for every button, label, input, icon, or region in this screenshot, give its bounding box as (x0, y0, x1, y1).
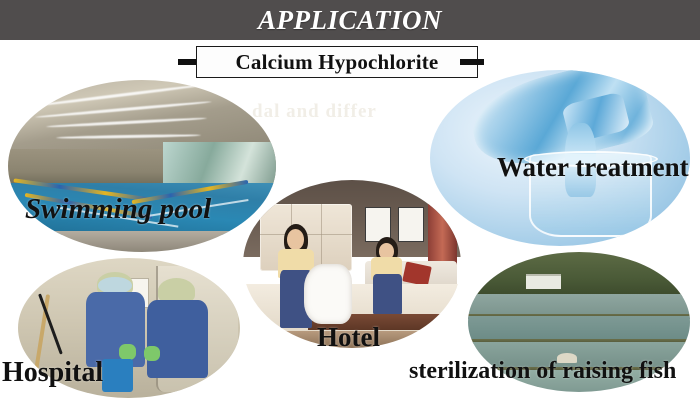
housekeeper-right (365, 237, 413, 314)
dash-right-icon (460, 59, 484, 65)
panel-swimming-pool (8, 80, 276, 252)
caption-fish-farm: sterilization of raising fish (409, 358, 676, 385)
fish-pond (468, 316, 690, 338)
glove (119, 344, 135, 360)
apron (373, 274, 403, 314)
bed-linen (304, 264, 352, 324)
fish-pond (468, 294, 690, 314)
swimming-pool-photo (8, 80, 276, 252)
tree-line (468, 252, 690, 297)
caption-swimming-pool: Swimming pool (25, 193, 211, 226)
farm-building (526, 274, 562, 289)
caption-hotel: Hotel (317, 322, 380, 353)
head (287, 229, 304, 250)
protective-gown (86, 292, 146, 367)
backpack-sprayer (102, 359, 133, 393)
face-shield (98, 277, 132, 294)
subtitle-label: Calcium Hypochlorite (236, 50, 439, 75)
caption-water-treatment: Water treatment (497, 152, 689, 183)
page-title: APPLICATION (0, 0, 700, 40)
medic-back (147, 278, 209, 396)
application-banner: APPLICATION Calcium Hypochlorite dal and… (0, 0, 700, 400)
glove (144, 346, 160, 361)
caption-hospital: Hospital (2, 357, 103, 389)
protective-gown (147, 300, 208, 378)
pool-deck (8, 231, 276, 252)
